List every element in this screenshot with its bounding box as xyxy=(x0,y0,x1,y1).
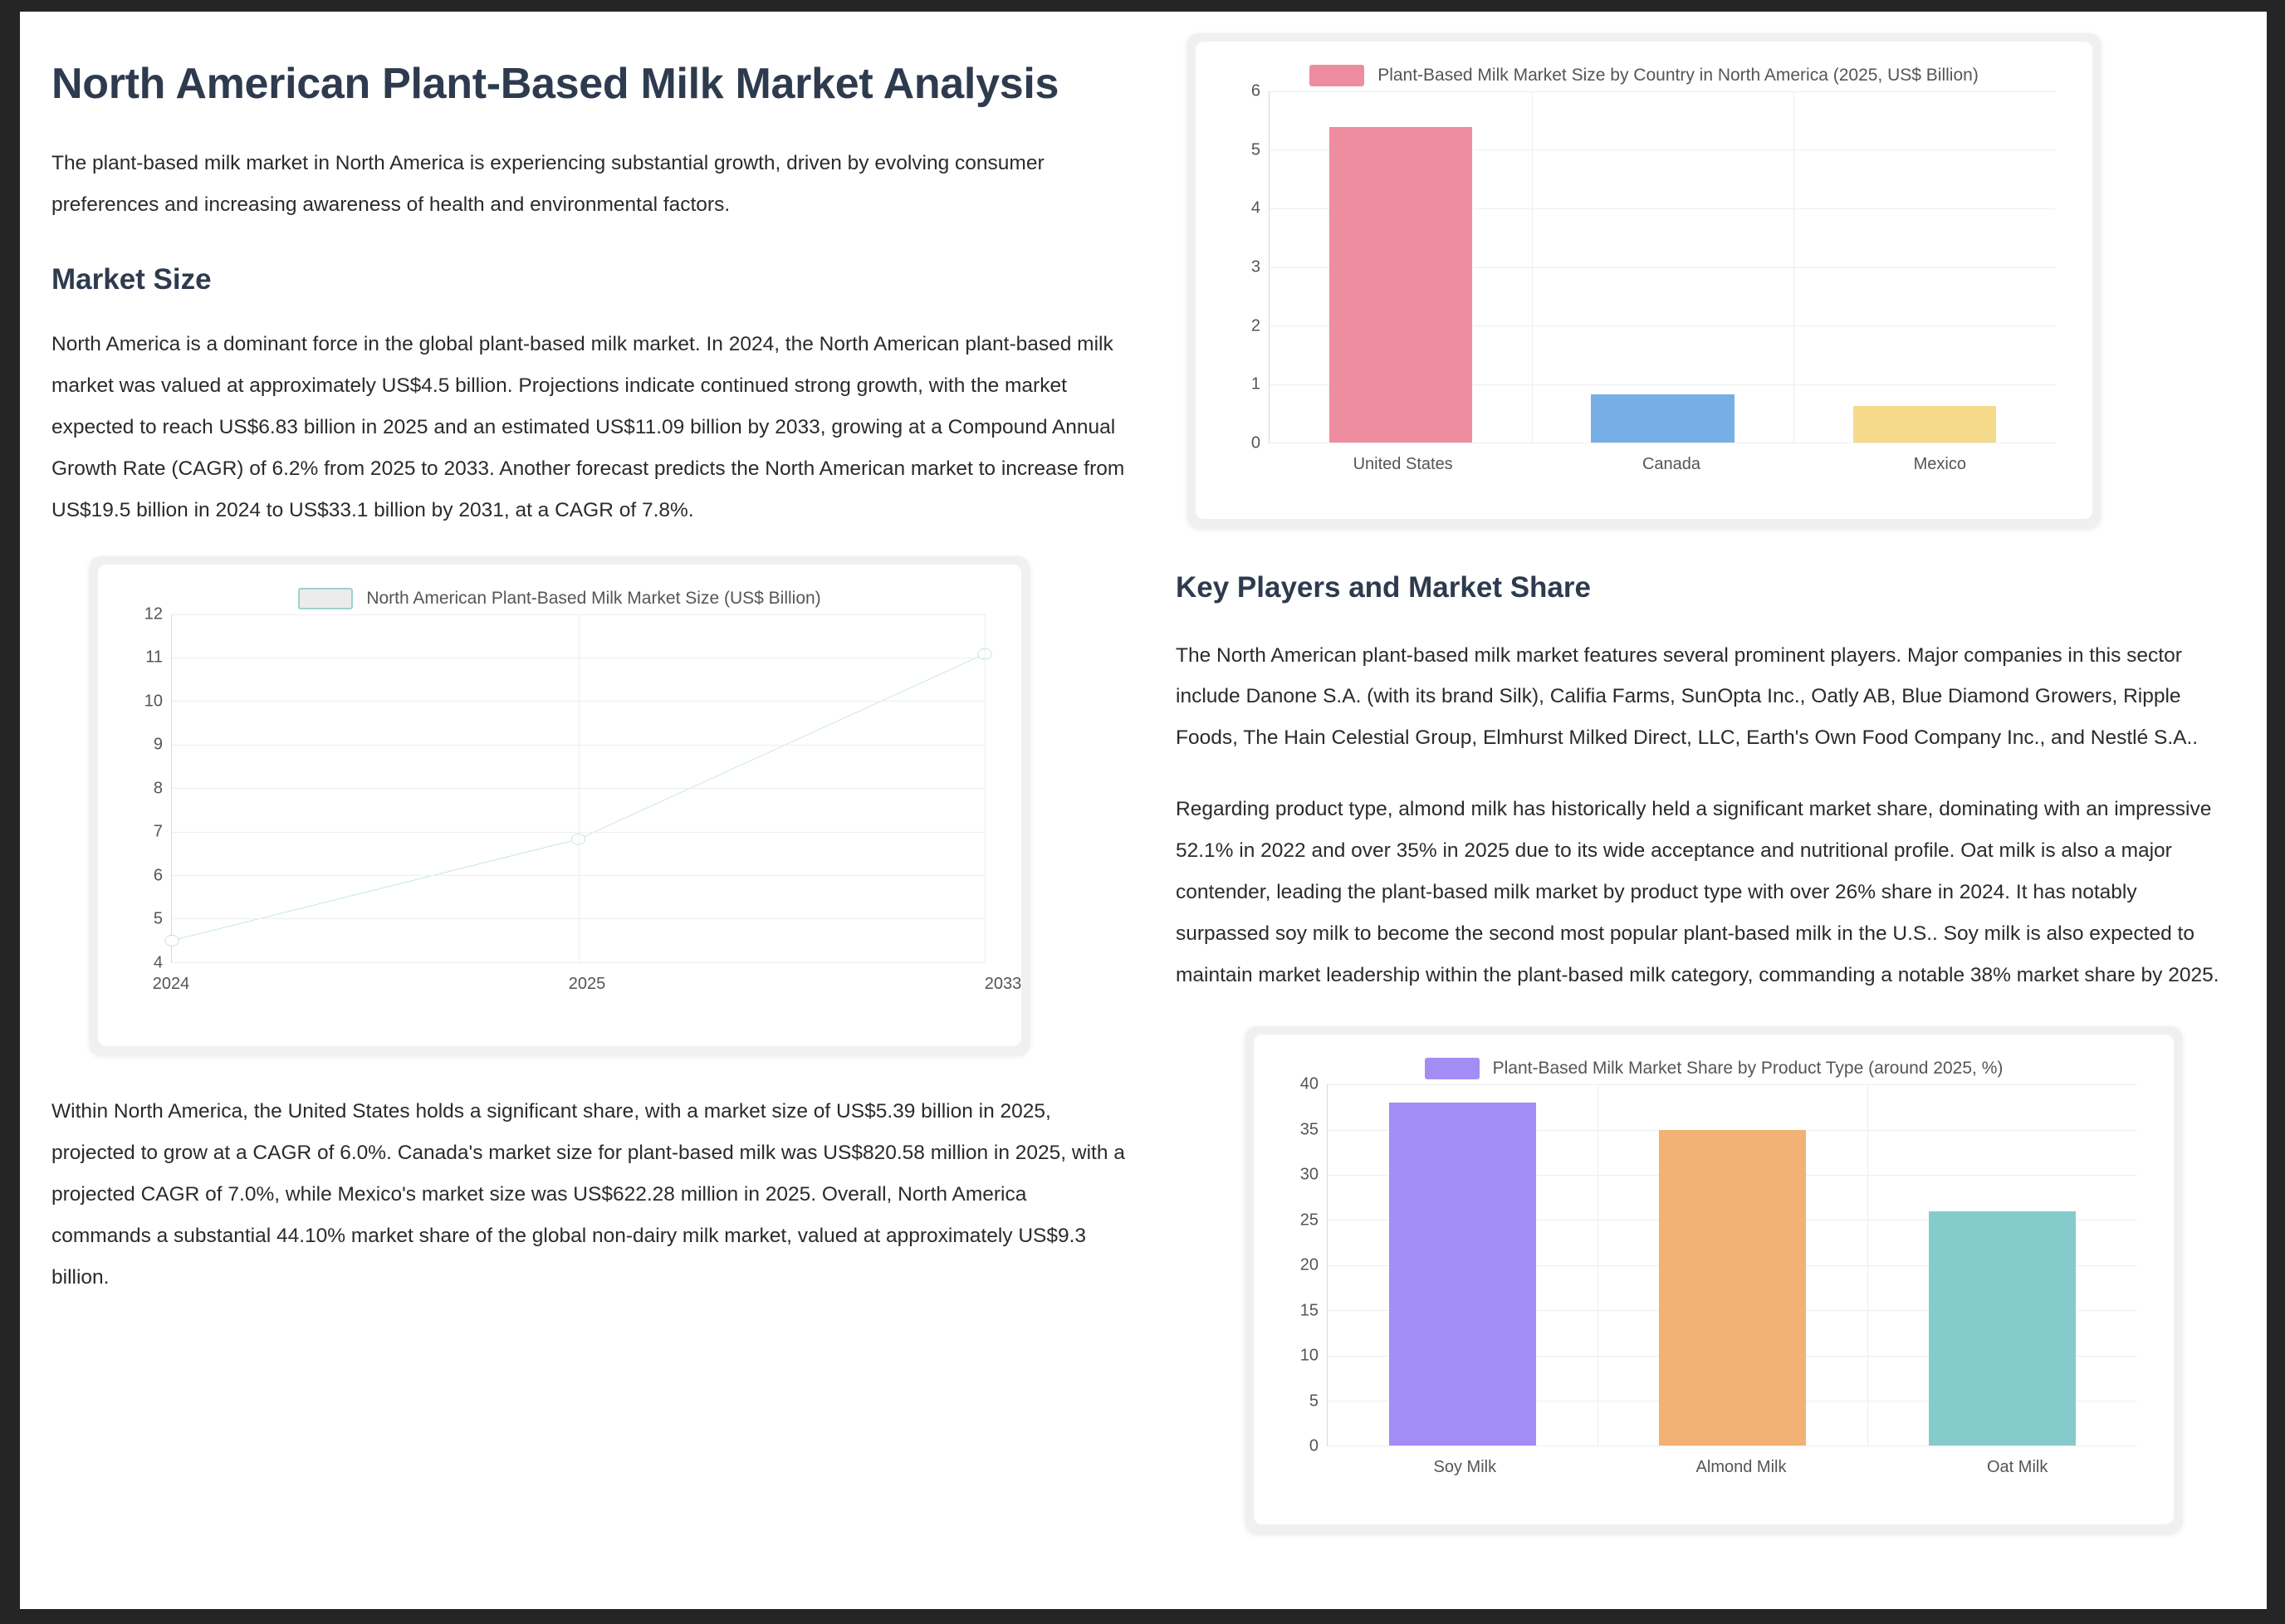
x-gridline xyxy=(579,614,580,962)
y-axis-tick: 5 xyxy=(154,910,163,929)
bar[interactable] xyxy=(1929,1211,2076,1446)
y-axis-tick: 20 xyxy=(1300,1256,1319,1275)
chart-card-product-type-share: Plant-Based Milk Market Share by Product… xyxy=(1245,1026,2182,1533)
two-column-layout: North American Plant-Based Milk Market A… xyxy=(20,12,2267,1609)
chart-legend-na-market-size[interactable]: North American Plant-Based Milk Market S… xyxy=(98,565,1021,614)
x-axis-label: United States xyxy=(1353,455,1453,474)
document-page: North American Plant-Based Milk Market A… xyxy=(20,12,2267,1609)
bar[interactable] xyxy=(1329,127,1472,443)
y-axis-tick: 4 xyxy=(154,953,163,972)
legend-swatch-na-market-size xyxy=(298,588,353,609)
y-axis-tick: 30 xyxy=(1300,1166,1319,1185)
x-axis-label: Soy Milk xyxy=(1434,1458,1497,1477)
legend-label-product-type-share: Plant-Based Milk Market Share by Product… xyxy=(1493,1059,2004,1079)
x-axis-label: 2024 xyxy=(153,975,190,994)
y-axis-tick: 7 xyxy=(154,823,163,842)
plot-canvas-na-market-size xyxy=(171,614,985,963)
y-axis-tick: 10 xyxy=(144,692,163,711)
y-axis-tick: 3 xyxy=(1251,258,1260,277)
y-axis-tick: 8 xyxy=(154,779,163,798)
chart-canvas-product-type-share: Plant-Based Milk Market Share by Product… xyxy=(1254,1035,2174,1524)
bar[interactable] xyxy=(1853,406,1996,443)
chart-card-na-market-size: North American Plant-Based Milk Market S… xyxy=(90,556,1030,1054)
category-separator xyxy=(1793,91,1794,443)
plot-area-product-type-share: 0510152025303540 xyxy=(1275,1084,2155,1446)
x-axis-label: Canada xyxy=(1642,455,1700,474)
x-axis-na-market-size: 202420252033 xyxy=(171,963,1003,1001)
chart-legend-country-market-size[interactable]: Plant-Based Milk Market Size by Country … xyxy=(1196,42,2092,91)
x-axis-label: Mexico xyxy=(1914,455,1966,474)
key-players-paragraph-2: Regarding product type, almond milk has … xyxy=(1176,789,2235,996)
bar[interactable] xyxy=(1591,394,1734,443)
right-column: Plant-Based Milk Market Size by Country … xyxy=(1164,33,2235,1609)
x-axis-label: 2025 xyxy=(569,975,606,994)
y-axis-product-type-share: 0510152025303540 xyxy=(1275,1084,1327,1446)
legend-swatch-country-market-size xyxy=(1309,65,1364,86)
bar[interactable] xyxy=(1389,1103,1536,1445)
y-axis-tick: 4 xyxy=(1251,199,1260,218)
chart-legend-product-type-share[interactable]: Plant-Based Milk Market Share by Product… xyxy=(1254,1035,2174,1084)
legend-swatch-product-type-share xyxy=(1425,1058,1480,1079)
gridline xyxy=(1328,1084,2137,1085)
x-axis-label: Almond Milk xyxy=(1696,1458,1787,1477)
y-axis-tick: 15 xyxy=(1300,1301,1319,1320)
chart-card-country-market-size: Plant-Based Milk Market Size by Country … xyxy=(1187,33,2101,527)
gridline xyxy=(1270,91,2056,92)
y-axis-tick: 0 xyxy=(1309,1437,1319,1456)
y-axis-tick: 35 xyxy=(1300,1120,1319,1139)
plot-area-country-market-size: 0123456 xyxy=(1217,91,2074,443)
bar[interactable] xyxy=(1659,1130,1806,1446)
legend-label-na-market-size: North American Plant-Based Milk Market S… xyxy=(366,589,820,609)
section-heading-key-players: Key Players and Market Share xyxy=(1176,569,2235,607)
page-title: North American Plant-Based Milk Market A… xyxy=(51,58,1131,110)
x-gridline xyxy=(985,614,986,962)
category-separator xyxy=(1532,91,1533,443)
y-axis-tick: 6 xyxy=(154,866,163,885)
chart-canvas-country-market-size: Plant-Based Milk Market Size by Country … xyxy=(1196,42,2092,519)
y-axis-country-market-size: 0123456 xyxy=(1217,91,1269,443)
y-axis-tick: 5 xyxy=(1309,1392,1319,1411)
y-axis-tick: 25 xyxy=(1300,1211,1319,1230)
y-axis-na-market-size: 456789101112 xyxy=(120,614,171,963)
y-axis-tick: 12 xyxy=(144,604,163,624)
y-axis-tick: 10 xyxy=(1300,1347,1319,1366)
intro-paragraph: The plant-based milk market in North Ame… xyxy=(51,143,1131,226)
chart-canvas-na-market-size: North American Plant-Based Milk Market S… xyxy=(98,565,1021,1046)
key-players-paragraph-1: The North American plant-based milk mark… xyxy=(1176,635,2235,760)
category-separator xyxy=(1867,1084,1868,1445)
screen-viewport: North American Plant-Based Milk Market A… xyxy=(0,0,2285,1624)
y-axis-tick: 40 xyxy=(1300,1075,1319,1094)
category-separator xyxy=(1598,1084,1598,1445)
legend-label-country-market-size: Plant-Based Milk Market Size by Country … xyxy=(1377,66,1979,86)
y-axis-tick: 1 xyxy=(1251,375,1260,394)
section-heading-market-size: Market Size xyxy=(51,261,1131,299)
market-size-paragraph-1: North America is a dominant force in the… xyxy=(51,324,1131,531)
market-size-paragraph-2: Within North America, the United States … xyxy=(51,1091,1131,1299)
plot-canvas-country-market-size xyxy=(1269,91,2056,443)
left-column: North American Plant-Based Milk Market A… xyxy=(51,33,1164,1609)
data-point-marker[interactable] xyxy=(165,935,179,946)
plot-area-na-market-size: 456789101112 xyxy=(120,614,1003,963)
x-axis-country-market-size: United StatesCanadaMexico xyxy=(1269,443,2074,482)
y-axis-tick: 6 xyxy=(1251,82,1260,101)
y-axis-tick: 5 xyxy=(1251,140,1260,159)
x-axis-product-type-share: Soy MilkAlmond MilkOat Milk xyxy=(1327,1446,2155,1485)
y-axis-tick: 9 xyxy=(154,736,163,755)
y-axis-tick: 11 xyxy=(145,648,163,668)
plot-canvas-product-type-share xyxy=(1327,1084,2137,1446)
x-axis-label: 2033 xyxy=(985,975,1022,994)
y-axis-tick: 2 xyxy=(1251,316,1260,335)
x-axis-label: Oat Milk xyxy=(1987,1458,2048,1477)
y-axis-tick: 0 xyxy=(1251,434,1260,453)
